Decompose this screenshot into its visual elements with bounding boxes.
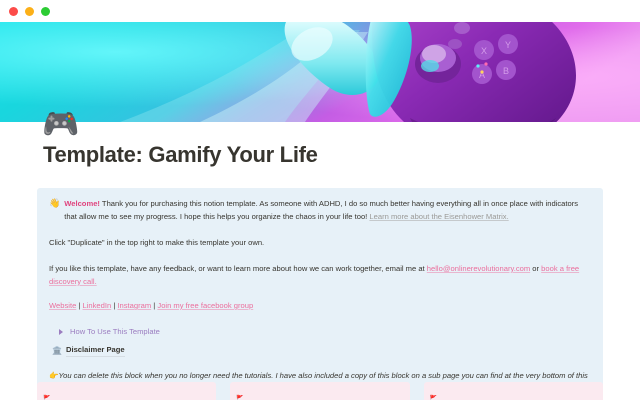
svg-text:Y: Y bbox=[505, 40, 511, 50]
classical-building-icon: 🏛️ bbox=[52, 345, 62, 357]
bottom-card-3[interactable]: 🚩 bbox=[424, 382, 603, 400]
flag-icon: 🚩 bbox=[236, 396, 243, 400]
how-to-use-toggle[interactable]: How To Use This Template bbox=[49, 326, 591, 338]
callout-first-row: 👋 Welcome! Thank you for purchasing this… bbox=[49, 197, 591, 223]
feedback-prefix-text: If you like this template, have any feed… bbox=[49, 264, 427, 273]
disclaimer-page-label: Disclaimer Page bbox=[66, 344, 125, 357]
flag-icon: 🚩 bbox=[43, 396, 50, 400]
waving-hand-icon: 👋 bbox=[49, 197, 60, 210]
eisenhower-matrix-link[interactable]: Learn more about the Eisenhower Matrix. bbox=[369, 212, 508, 221]
window-minimize-button[interactable] bbox=[25, 7, 34, 16]
game-controller-icon[interactable]: 🎮 bbox=[42, 108, 76, 142]
welcome-paragraph: Welcome! Thank you for purchasing this n… bbox=[64, 197, 591, 223]
bottom-card-2[interactable]: 🚩 bbox=[230, 382, 409, 400]
page-content: Template: Gamify Your Life 👋 Welcome! Th… bbox=[0, 122, 640, 400]
chevron-right-icon[interactable] bbox=[59, 329, 63, 335]
feedback-mid-text: or bbox=[530, 264, 541, 273]
page-title[interactable]: Template: Gamify Your Life bbox=[43, 142, 318, 168]
window-titlebar bbox=[0, 0, 640, 22]
app-window: X Y A B 🎮 Template: Gamify Your Life 👋 W bbox=[0, 0, 640, 400]
social-links-row: Website | LinkedIn | Instagram | Join my… bbox=[49, 299, 591, 312]
cover-artwork: X Y A B bbox=[0, 22, 640, 122]
window-maximize-button[interactable] bbox=[41, 7, 50, 16]
disclaimer-page-link[interactable]: 🏛️ Disclaimer Page bbox=[49, 344, 591, 357]
svg-text:B: B bbox=[503, 66, 509, 76]
window-close-button[interactable] bbox=[9, 7, 18, 16]
bottom-cards-row: 🚩 🚩 🚩 bbox=[37, 382, 603, 400]
welcome-callout: 👋 Welcome! Thank you for purchasing this… bbox=[37, 188, 603, 400]
website-link[interactable]: Website bbox=[49, 301, 76, 310]
duplicate-instruction: Click "Duplicate" in the top right to ma… bbox=[49, 236, 591, 249]
welcome-bold-text: Welcome! bbox=[64, 199, 100, 208]
instagram-link[interactable]: Instagram bbox=[117, 301, 151, 310]
svg-text:X: X bbox=[481, 46, 487, 56]
flag-icon: 🚩 bbox=[430, 396, 437, 400]
facebook-group-link[interactable]: Join my free facebook group bbox=[157, 301, 253, 310]
page-cover-image[interactable]: X Y A B bbox=[0, 22, 640, 122]
how-to-use-toggle-label: How To Use This Template bbox=[70, 326, 160, 338]
linkedin-link[interactable]: LinkedIn bbox=[83, 301, 112, 310]
feedback-paragraph: If you like this template, have any feed… bbox=[49, 262, 591, 288]
bottom-card-1[interactable]: 🚩 bbox=[37, 382, 216, 400]
email-link[interactable]: hello@onlinerevolutionary.com bbox=[427, 264, 530, 273]
